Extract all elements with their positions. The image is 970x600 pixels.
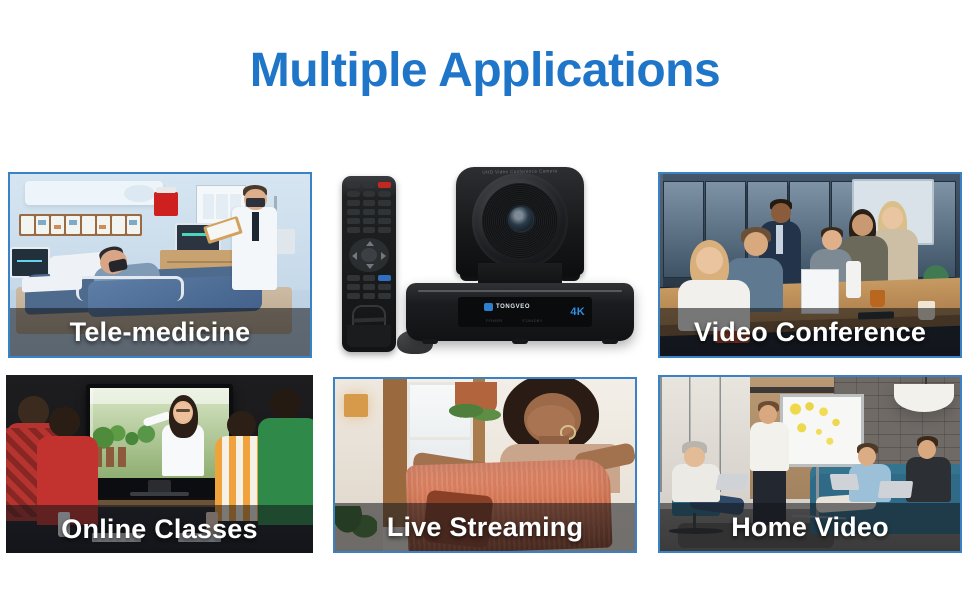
remote-camera-row[interactable] xyxy=(347,191,391,197)
camera-lens-barrel xyxy=(482,183,558,259)
attendee-body xyxy=(906,457,951,502)
student-head xyxy=(49,407,80,437)
person-head xyxy=(852,214,873,236)
ir-remote-control[interactable] xyxy=(342,176,396,352)
remote-num-key[interactable] xyxy=(363,209,376,215)
remote-num-key[interactable] xyxy=(363,218,376,224)
dpad-left-icon[interactable] xyxy=(352,252,357,260)
person-head xyxy=(696,247,723,274)
plant-pots xyxy=(94,447,161,467)
remote-key[interactable] xyxy=(347,293,360,299)
camera-foot xyxy=(602,339,618,344)
camera-base: TONGVEO 4K POWER STANDBY xyxy=(406,283,634,341)
window-muntin xyxy=(407,437,473,440)
page-title: Multiple Applications xyxy=(0,46,970,96)
remote-power-row[interactable] xyxy=(347,182,391,188)
person-head xyxy=(744,232,768,256)
bed-tray-table xyxy=(22,274,82,292)
remote-battery-cover xyxy=(347,325,391,347)
wall-lamp xyxy=(344,394,368,416)
ceiling-light xyxy=(25,181,163,205)
remote-num-key[interactable] xyxy=(378,200,391,206)
remote-key[interactable] xyxy=(378,191,391,197)
tile-caption-label: Video Conference xyxy=(694,317,926,348)
tile-caption-band: Home Video xyxy=(660,503,960,551)
sticky-notes xyxy=(783,397,861,464)
remote-num-key[interactable] xyxy=(347,209,360,215)
camera-lens-glass xyxy=(509,207,533,231)
supply-board xyxy=(19,214,142,236)
laptop xyxy=(715,474,748,490)
ceiling-beam xyxy=(750,387,834,392)
remote-key[interactable] xyxy=(378,284,391,290)
application-tile-home-video[interactable]: Home Video xyxy=(658,375,962,553)
tv-screen xyxy=(90,388,229,478)
laptop xyxy=(830,474,860,490)
remote-key[interactable] xyxy=(378,293,391,299)
remote-power-key[interactable] xyxy=(378,182,391,188)
multiple-applications-banner: Multiple Applications xyxy=(0,0,970,600)
ptz-conference-camera[interactable]: UHD Video Conference Camera TONGVEO 4K P… xyxy=(400,165,640,355)
teacher-glasses xyxy=(176,409,190,412)
tile-caption-band: Tele-medicine xyxy=(10,308,310,356)
hanging-plant-leaves xyxy=(449,400,506,428)
remote-key[interactable] xyxy=(347,182,360,188)
student-head xyxy=(270,389,301,419)
remote-numpad-row[interactable] xyxy=(347,209,391,215)
remote-num-key[interactable] xyxy=(378,227,391,233)
dpad-right-icon[interactable] xyxy=(381,252,386,260)
remote-dpad[interactable] xyxy=(349,238,389,272)
standby-led-label: STANDBY xyxy=(522,318,543,323)
application-tile-video-conference[interactable]: Video Conference xyxy=(658,172,962,358)
tile-caption-band: Online Classes xyxy=(6,505,313,553)
remote-key[interactable] xyxy=(363,182,376,188)
person-head xyxy=(822,230,842,250)
remote-numpad-row[interactable] xyxy=(347,227,391,233)
remote-key[interactable] xyxy=(347,191,360,197)
brand-logomark-icon xyxy=(484,303,493,311)
person-tie xyxy=(776,225,784,254)
student-head xyxy=(227,411,256,439)
remote-num-key[interactable] xyxy=(347,227,360,233)
attendee-head xyxy=(858,447,876,466)
resolution-badge: 4K xyxy=(570,306,585,318)
application-tile-tele-medicine[interactable]: Tele-medicine xyxy=(8,172,312,358)
remote-menu-key[interactable] xyxy=(363,275,376,281)
camera-foot xyxy=(512,339,528,344)
doctor-tie xyxy=(252,212,260,241)
person-head xyxy=(771,203,791,223)
remote-num-key[interactable] xyxy=(363,200,376,206)
remote-num-key[interactable] xyxy=(378,209,391,215)
presenter-head xyxy=(759,405,777,424)
application-tile-online-classes[interactable]: Online Classes xyxy=(6,375,313,553)
tile-caption-label: Live Streaming xyxy=(387,512,583,543)
water-bottle xyxy=(846,261,861,297)
camera-lens-ring xyxy=(472,173,568,269)
remote-function-row[interactable] xyxy=(347,284,391,290)
dpad-ok-key[interactable] xyxy=(361,248,377,262)
attendee-body xyxy=(672,464,720,502)
presenter-body xyxy=(750,422,789,471)
remote-grip-slot xyxy=(352,305,386,327)
remote-menu-row[interactable] xyxy=(347,275,391,281)
brand-logo: TONGVEO xyxy=(484,303,530,311)
tv-stand-base xyxy=(130,492,189,496)
person-head xyxy=(882,207,903,229)
power-led-label: POWER xyxy=(486,318,503,323)
tile-caption-band: Live Streaming xyxy=(335,503,635,551)
remote-num-key[interactable] xyxy=(347,218,360,224)
application-tile-live-streaming[interactable]: Live Streaming xyxy=(333,377,637,553)
dpad-up-icon[interactable] xyxy=(366,241,374,246)
tile-caption-band: Video Conference xyxy=(660,308,960,356)
remote-numpad-row[interactable] xyxy=(347,200,391,206)
remote-blue-key[interactable] xyxy=(378,275,391,281)
bed-side-rail xyxy=(76,276,184,301)
dpad-down-icon[interactable] xyxy=(366,264,374,269)
tile-caption-label: Home Video xyxy=(731,512,889,543)
tile-caption-label: Tele-medicine xyxy=(70,317,251,348)
tile-caption-label: Online Classes xyxy=(61,514,257,545)
laptop xyxy=(878,481,913,498)
remote-num-key[interactable] xyxy=(363,227,376,233)
remote-key[interactable] xyxy=(363,191,376,197)
camera-foot xyxy=(422,339,438,344)
teacher-face xyxy=(175,403,192,421)
sharps-container xyxy=(154,192,178,216)
camera-head: UHD Video Conference Camera xyxy=(456,167,584,275)
attendee-head xyxy=(918,440,936,459)
remote-key[interactable] xyxy=(347,275,360,281)
remote-key[interactable] xyxy=(363,284,376,290)
remote-numpad-row[interactable] xyxy=(347,218,391,224)
remote-num-key[interactable] xyxy=(378,218,391,224)
doctor-face-mask xyxy=(246,198,266,207)
classroom-television xyxy=(86,384,233,496)
remote-num-key[interactable] xyxy=(347,200,360,206)
remote-key[interactable] xyxy=(347,284,360,290)
mobile-whiteboard xyxy=(780,394,864,467)
remote-key[interactable] xyxy=(363,293,376,299)
camera-front-panel: TONGVEO 4K POWER STANDBY xyxy=(458,297,592,327)
remote-function-row[interactable] xyxy=(347,293,391,299)
coffee-cup xyxy=(870,290,885,306)
brand-name: TONGVEO xyxy=(496,304,530,310)
